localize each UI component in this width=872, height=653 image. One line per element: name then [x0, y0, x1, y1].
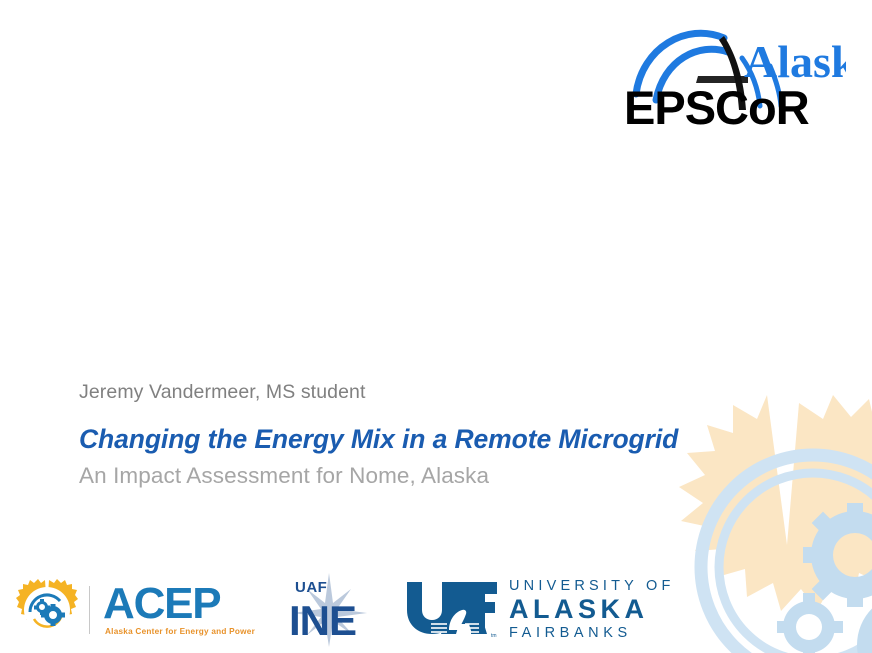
epscor-script-word: Alaska: [744, 36, 846, 87]
uaf-line-alaska: ALASKA: [509, 595, 649, 625]
epscor-wordmark: EPSCoR: [624, 81, 809, 130]
uaf-ine-logo: UAF INE: [281, 573, 375, 647]
acep-gear-icon: [16, 579, 78, 641]
page-title: Changing the Energy Mix in a Remote Micr…: [79, 424, 799, 454]
author-line: Jeremy Vandermeer, MS student: [79, 381, 799, 404]
uaf-nanook-monogram-icon: tm: [405, 580, 497, 640]
uaf-trademark: tm: [491, 633, 497, 639]
ine-wordmark: INE: [289, 597, 356, 644]
acep-logo: ACEP Alaska Center for Energy and Power: [16, 579, 255, 641]
ine-prefix: UAF: [295, 579, 327, 596]
uaf-line-university-of: UNIVERSITY OF: [509, 577, 675, 595]
acep-wordmark: ACEP: [103, 583, 220, 625]
alaska-epscor-logo: Alaska EPSCoR: [620, 14, 846, 130]
acep-logo-divider: [89, 586, 90, 634]
presentation-slide: Alaska EPSCoR: [0, 0, 872, 653]
uaf-logo: tm UNIVERSITY OF ALASKA FAIRBANKS: [405, 577, 675, 643]
page-subtitle: An Impact Assessment for Nome, Alaska: [79, 462, 799, 489]
title-block: Jeremy Vandermeer, MS student Changing t…: [79, 381, 799, 489]
uaf-line-fairbanks: FAIRBANKS: [509, 624, 632, 642]
acep-tagline: Alaska Center for Energy and Power: [105, 627, 255, 636]
footer-logo-strip: ACEP Alaska Center for Energy and Power …: [0, 566, 872, 653]
